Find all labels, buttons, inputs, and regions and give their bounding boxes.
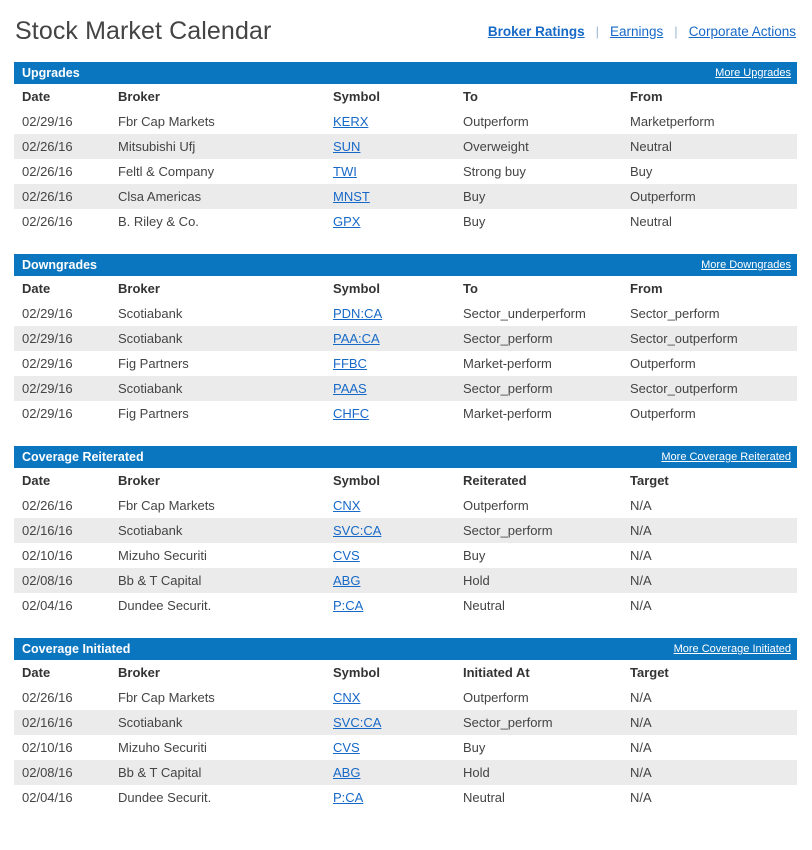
nav-separator: |: [674, 24, 677, 39]
cell-symbol: PDN:CA: [325, 301, 455, 326]
symbol-link[interactable]: PDN:CA: [333, 306, 382, 321]
cell-from: Outperform: [622, 351, 797, 376]
cell-symbol: CNX: [325, 685, 455, 710]
cell-date: 02/08/16: [14, 568, 110, 593]
nav-link-corporate-actions[interactable]: Corporate Actions: [689, 24, 796, 39]
cell-symbol: PAAS: [325, 376, 455, 401]
table-row: 02/26/16 Fbr Cap Markets CNX Outperform …: [14, 685, 797, 710]
cell-date: 02/29/16: [14, 351, 110, 376]
cell-date: 02/29/16: [14, 376, 110, 401]
column-header-date: Date: [14, 84, 110, 109]
cell-from: Outperform: [622, 401, 797, 426]
column-header-date: Date: [14, 276, 110, 301]
section-coverage-initiated: Coverage Initiated More Coverage Initiat…: [14, 638, 797, 810]
cell-broker: Fig Partners: [110, 401, 325, 426]
cell-to: Market-perform: [455, 351, 622, 376]
cell-date: 02/29/16: [14, 109, 110, 134]
symbol-link[interactable]: PAAS: [333, 381, 367, 396]
table-row: 02/04/16 Dundee Securit. P:CA Neutral N/…: [14, 593, 797, 618]
table-row: 02/26/16 Fbr Cap Markets CNX Outperform …: [14, 493, 797, 518]
more-coverage-initiated-link[interactable]: More Coverage Initiated: [674, 638, 791, 660]
cell-symbol: CNX: [325, 493, 455, 518]
section-title: Upgrades: [22, 62, 80, 84]
cell-symbol: CVS: [325, 543, 455, 568]
symbol-link[interactable]: TWI: [333, 164, 357, 179]
column-header-symbol: Symbol: [325, 468, 455, 493]
upgrades-table: Date Broker Symbol To From 02/29/16 Fbr …: [14, 84, 797, 234]
cell-broker: Scotiabank: [110, 326, 325, 351]
nav-link-broker-ratings[interactable]: Broker Ratings: [488, 24, 585, 39]
nav-separator: |: [596, 24, 599, 39]
symbol-link[interactable]: SVC:CA: [333, 715, 381, 730]
cell-symbol: P:CA: [325, 785, 455, 810]
cell-broker: Bb & T Capital: [110, 760, 325, 785]
cell-symbol: CHFC: [325, 401, 455, 426]
column-header-to: To: [455, 84, 622, 109]
column-header-symbol: Symbol: [325, 660, 455, 685]
cell-broker: Fbr Cap Markets: [110, 493, 325, 518]
cell-date: 02/26/16: [14, 184, 110, 209]
symbol-link[interactable]: CVS: [333, 740, 360, 755]
symbol-link[interactable]: PAA:CA: [333, 331, 380, 346]
cell-target: N/A: [622, 735, 797, 760]
cell-from: Sector_outperform: [622, 326, 797, 351]
section-upgrades: Upgrades More Upgrades Date Broker Symbo…: [14, 62, 797, 234]
cell-to: Overweight: [455, 134, 622, 159]
cell-from: Neutral: [622, 209, 797, 234]
symbol-link[interactable]: ABG: [333, 765, 360, 780]
cell-date: 02/26/16: [14, 493, 110, 518]
section-title: Downgrades: [22, 254, 97, 276]
symbol-link[interactable]: MNST: [333, 189, 370, 204]
column-header-reiterated: Reiterated: [455, 468, 622, 493]
coverage-initiated-table: Date Broker Symbol Initiated At Target 0…: [14, 660, 797, 810]
cell-date: 02/26/16: [14, 134, 110, 159]
cell-broker: Scotiabank: [110, 518, 325, 543]
cell-from: Buy: [622, 159, 797, 184]
cell-target: N/A: [622, 593, 797, 618]
symbol-link[interactable]: CVS: [333, 548, 360, 563]
cell-symbol: SVC:CA: [325, 710, 455, 735]
table-row: 02/29/16 Fig Partners CHFC Market-perfor…: [14, 401, 797, 426]
cell-date: 02/16/16: [14, 710, 110, 735]
cell-date: 02/10/16: [14, 735, 110, 760]
cell-to: Outperform: [455, 109, 622, 134]
symbol-link[interactable]: FFBC: [333, 356, 367, 371]
column-header-broker: Broker: [110, 84, 325, 109]
section-title: Coverage Initiated: [22, 638, 130, 660]
cell-initiated-at: Hold: [455, 760, 622, 785]
cell-target: N/A: [622, 493, 797, 518]
cell-broker: Scotiabank: [110, 301, 325, 326]
page-title: Stock Market Calendar: [14, 16, 271, 46]
cell-symbol: TWI: [325, 159, 455, 184]
cell-date: 02/26/16: [14, 159, 110, 184]
section-coverage-reiterated: Coverage Reiterated More Coverage Reiter…: [14, 446, 797, 618]
cell-broker: Mizuho Securiti: [110, 735, 325, 760]
cell-date: 02/29/16: [14, 301, 110, 326]
cell-broker: Dundee Securit.: [110, 785, 325, 810]
cell-to: Sector_underperform: [455, 301, 622, 326]
table-row: 02/08/16 Bb & T Capital ABG Hold N/A: [14, 568, 797, 593]
cell-initiated-at: Outperform: [455, 685, 622, 710]
column-header-to: To: [455, 276, 622, 301]
column-header-broker: Broker: [110, 276, 325, 301]
table-row: 02/16/16 Scotiabank SVC:CA Sector_perfor…: [14, 518, 797, 543]
cell-broker: Bb & T Capital: [110, 568, 325, 593]
column-header-initiated-at: Initiated At: [455, 660, 622, 685]
cell-to: Buy: [455, 209, 622, 234]
cell-date: 02/26/16: [14, 685, 110, 710]
cell-broker: Mizuho Securiti: [110, 543, 325, 568]
cell-to: Buy: [455, 184, 622, 209]
section-title: Coverage Reiterated: [22, 446, 144, 468]
cell-target: N/A: [622, 785, 797, 810]
table-row: 02/29/16 Scotiabank PAA:CA Sector_perfor…: [14, 326, 797, 351]
page-header: Stock Market Calendar Broker Ratings | E…: [0, 0, 812, 62]
column-header-target: Target: [622, 468, 797, 493]
downgrades-table: Date Broker Symbol To From 02/29/16 Scot…: [14, 276, 797, 426]
cell-date: 02/29/16: [14, 326, 110, 351]
cell-date: 02/29/16: [14, 401, 110, 426]
table-header-row: Date Broker Symbol To From: [14, 276, 797, 301]
nav-link-earnings[interactable]: Earnings: [610, 24, 663, 39]
cell-to: Market-perform: [455, 401, 622, 426]
cell-from: Sector_perform: [622, 301, 797, 326]
section-header-coverage-reiterated: Coverage Reiterated More Coverage Reiter…: [14, 446, 797, 468]
column-header-target: Target: [622, 660, 797, 685]
cell-target: N/A: [622, 543, 797, 568]
table-row: 02/26/16 Mitsubishi Ufj SUN Overweight N…: [14, 134, 797, 159]
more-downgrades-link[interactable]: More Downgrades: [701, 254, 791, 276]
section-header-coverage-initiated: Coverage Initiated More Coverage Initiat…: [14, 638, 797, 660]
table-row: 02/08/16 Bb & T Capital ABG Hold N/A: [14, 760, 797, 785]
section-downgrades: Downgrades More Downgrades Date Broker S…: [14, 254, 797, 426]
cell-date: 02/04/16: [14, 785, 110, 810]
table-row: 02/26/16 Feltl & Company TWI Strong buy …: [14, 159, 797, 184]
cell-broker: Clsa Americas: [110, 184, 325, 209]
symbol-link[interactable]: CHFC: [333, 406, 369, 421]
symbol-link[interactable]: P:CA: [333, 790, 363, 805]
cell-symbol: PAA:CA: [325, 326, 455, 351]
cell-date: 02/26/16: [14, 209, 110, 234]
cell-reiterated: Hold: [455, 568, 622, 593]
cell-from: Outperform: [622, 184, 797, 209]
cell-date: 02/16/16: [14, 518, 110, 543]
cell-target: N/A: [622, 568, 797, 593]
symbol-link[interactable]: SUN: [333, 139, 360, 154]
column-header-symbol: Symbol: [325, 276, 455, 301]
cell-symbol: SVC:CA: [325, 518, 455, 543]
cell-broker: Fig Partners: [110, 351, 325, 376]
cell-broker: Fbr Cap Markets: [110, 685, 325, 710]
cell-to: Strong buy: [455, 159, 622, 184]
cell-initiated-at: Buy: [455, 735, 622, 760]
column-header-date: Date: [14, 660, 110, 685]
symbol-link[interactable]: KERX: [333, 114, 368, 129]
cell-symbol: ABG: [325, 760, 455, 785]
table-header-row: Date Broker Symbol Initiated At Target: [14, 660, 797, 685]
cell-symbol: SUN: [325, 134, 455, 159]
cell-broker: Mitsubishi Ufj: [110, 134, 325, 159]
cell-target: N/A: [622, 685, 797, 710]
section-header-downgrades: Downgrades More Downgrades: [14, 254, 797, 276]
table-row: 02/26/16 Clsa Americas MNST Buy Outperfo…: [14, 184, 797, 209]
column-header-from: From: [622, 84, 797, 109]
column-header-symbol: Symbol: [325, 84, 455, 109]
cell-broker: Feltl & Company: [110, 159, 325, 184]
more-coverage-reiterated-link[interactable]: More Coverage Reiterated: [661, 446, 791, 468]
cell-reiterated: Sector_perform: [455, 518, 622, 543]
cell-date: 02/10/16: [14, 543, 110, 568]
stock-market-calendar-page: Stock Market Calendar Broker Ratings | E…: [0, 0, 812, 850]
top-nav: Broker Ratings | Earnings | Corporate Ac…: [488, 24, 797, 39]
cell-broker: Scotiabank: [110, 376, 325, 401]
symbol-link[interactable]: CNX: [333, 498, 360, 513]
cell-symbol: CVS: [325, 735, 455, 760]
table-row: 02/10/16 Mizuho Securiti CVS Buy N/A: [14, 735, 797, 760]
table-header-row: Date Broker Symbol Reiterated Target: [14, 468, 797, 493]
cell-from: Neutral: [622, 134, 797, 159]
symbol-link[interactable]: P:CA: [333, 598, 363, 613]
cell-reiterated: Outperform: [455, 493, 622, 518]
cell-symbol: P:CA: [325, 593, 455, 618]
cell-reiterated: Buy: [455, 543, 622, 568]
cell-from: Marketperform: [622, 109, 797, 134]
table-row: 02/29/16 Scotiabank PAAS Sector_perform …: [14, 376, 797, 401]
coverage-reiterated-table: Date Broker Symbol Reiterated Target 02/…: [14, 468, 797, 618]
cell-target: N/A: [622, 710, 797, 735]
cell-symbol: MNST: [325, 184, 455, 209]
symbol-link[interactable]: CNX: [333, 690, 360, 705]
table-row: 02/26/16 B. Riley & Co. GPX Buy Neutral: [14, 209, 797, 234]
cell-date: 02/04/16: [14, 593, 110, 618]
table-row: 02/10/16 Mizuho Securiti CVS Buy N/A: [14, 543, 797, 568]
cell-target: N/A: [622, 518, 797, 543]
table-header-row: Date Broker Symbol To From: [14, 84, 797, 109]
cell-initiated-at: Sector_perform: [455, 710, 622, 735]
cell-target: N/A: [622, 760, 797, 785]
symbol-link[interactable]: SVC:CA: [333, 523, 381, 538]
table-row: 02/04/16 Dundee Securit. P:CA Neutral N/…: [14, 785, 797, 810]
column-header-date: Date: [14, 468, 110, 493]
table-row: 02/29/16 Scotiabank PDN:CA Sector_underp…: [14, 301, 797, 326]
cell-date: 02/08/16: [14, 760, 110, 785]
column-header-from: From: [622, 276, 797, 301]
column-header-broker: Broker: [110, 468, 325, 493]
cell-broker: Scotiabank: [110, 710, 325, 735]
cell-to: Sector_perform: [455, 326, 622, 351]
table-row: 02/29/16 Fig Partners FFBC Market-perfor…: [14, 351, 797, 376]
section-header-upgrades: Upgrades More Upgrades: [14, 62, 797, 84]
cell-broker: B. Riley & Co.: [110, 209, 325, 234]
cell-to: Sector_perform: [455, 376, 622, 401]
cell-reiterated: Neutral: [455, 593, 622, 618]
cell-symbol: FFBC: [325, 351, 455, 376]
cell-broker: Dundee Securit.: [110, 593, 325, 618]
symbol-link[interactable]: GPX: [333, 214, 360, 229]
cell-symbol: GPX: [325, 209, 455, 234]
symbol-link[interactable]: ABG: [333, 573, 360, 588]
cell-symbol: KERX: [325, 109, 455, 134]
table-row: 02/16/16 Scotiabank SVC:CA Sector_perfor…: [14, 710, 797, 735]
cell-from: Sector_outperform: [622, 376, 797, 401]
cell-initiated-at: Neutral: [455, 785, 622, 810]
more-upgrades-link[interactable]: More Upgrades: [715, 62, 791, 84]
cell-broker: Fbr Cap Markets: [110, 109, 325, 134]
column-header-broker: Broker: [110, 660, 325, 685]
table-row: 02/29/16 Fbr Cap Markets KERX Outperform…: [14, 109, 797, 134]
cell-symbol: ABG: [325, 568, 455, 593]
